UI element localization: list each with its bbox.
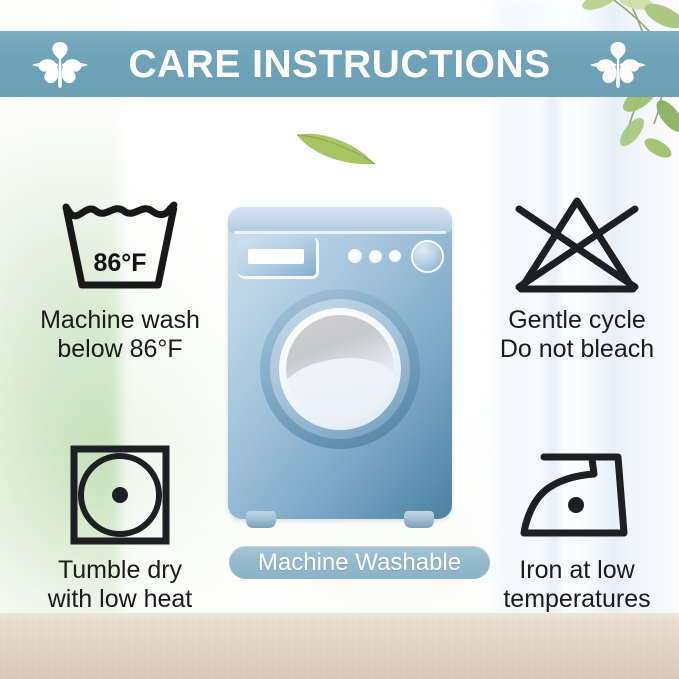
wash-tub-icon <box>52 193 188 297</box>
caption-line-2: temperatures <box>475 585 679 614</box>
detergent-drawer <box>238 238 319 279</box>
washer-door-highlight <box>286 349 394 423</box>
care-symbol-do-not-bleach: Gentle cycle Do not bleach <box>475 190 679 364</box>
leaf-icon <box>295 122 377 168</box>
caption-line-1: Machine wash <box>18 306 222 335</box>
care-symbol-iron: Iron at low temperatures <box>475 440 679 614</box>
indicator-dot <box>348 249 362 263</box>
care-symbol-caption: Tumble dry with low heat <box>18 556 222 614</box>
dial-knob <box>411 240 444 273</box>
caption-line-2: Do not bleach <box>475 335 679 364</box>
care-instructions-graphic: CARE INSTRUCTIONS 86°F <box>0 0 679 679</box>
tumble-dry-icon-wrap <box>18 440 222 550</box>
washing-machine-illustration <box>228 207 452 527</box>
no-bleach-icon-wrap <box>475 190 679 300</box>
washer-indicator-lights <box>348 249 401 263</box>
care-symbol-machine-wash: 86°F Machine wash below 86°F <box>18 190 222 364</box>
status-badge: Machine Washable <box>229 546 490 579</box>
status-badge-label: Machine Washable <box>258 551 461 575</box>
indicator-dot <box>369 250 382 263</box>
care-symbol-tumble-dry: Tumble dry with low heat <box>18 440 222 614</box>
caption-line-1: Iron at low <box>475 556 679 585</box>
washer-foot <box>246 511 276 528</box>
page-title: CARE INSTRUCTIONS <box>128 45 550 84</box>
caption-line-1: Tumble dry <box>18 556 222 585</box>
washer-door-glass <box>286 315 394 423</box>
header-banner: CARE INSTRUCTIONS <box>0 31 679 97</box>
wash-temperature-label: 86°F <box>52 249 188 278</box>
caption-line-1: Gentle cycle <box>475 306 679 335</box>
indicator-dot <box>389 250 401 262</box>
caption-line-2: with low heat <box>18 585 222 614</box>
care-symbol-caption: Iron at low temperatures <box>475 556 679 614</box>
fleur-de-lis-icon <box>586 38 650 90</box>
care-symbol-caption: Machine wash below 86°F <box>18 306 222 364</box>
iron-icon-wrap <box>475 440 679 550</box>
wash-tub-icon-wrap: 86°F <box>18 190 222 300</box>
detergent-drawer-slot <box>248 249 304 264</box>
tumble-dry-low-icon <box>68 443 172 547</box>
table-wood-grain <box>0 613 679 679</box>
washer-foot <box>404 511 434 528</box>
fleur-de-lis-icon <box>28 38 92 90</box>
triangle-crossed-no-bleach-icon <box>507 193 647 297</box>
care-symbol-caption: Gentle cycle Do not bleach <box>475 306 679 364</box>
iron-low-temp-icon <box>510 443 644 547</box>
caption-line-2: below 86°F <box>18 335 222 364</box>
washer-control-panel <box>228 207 452 233</box>
washer-panel-divider <box>234 231 446 234</box>
